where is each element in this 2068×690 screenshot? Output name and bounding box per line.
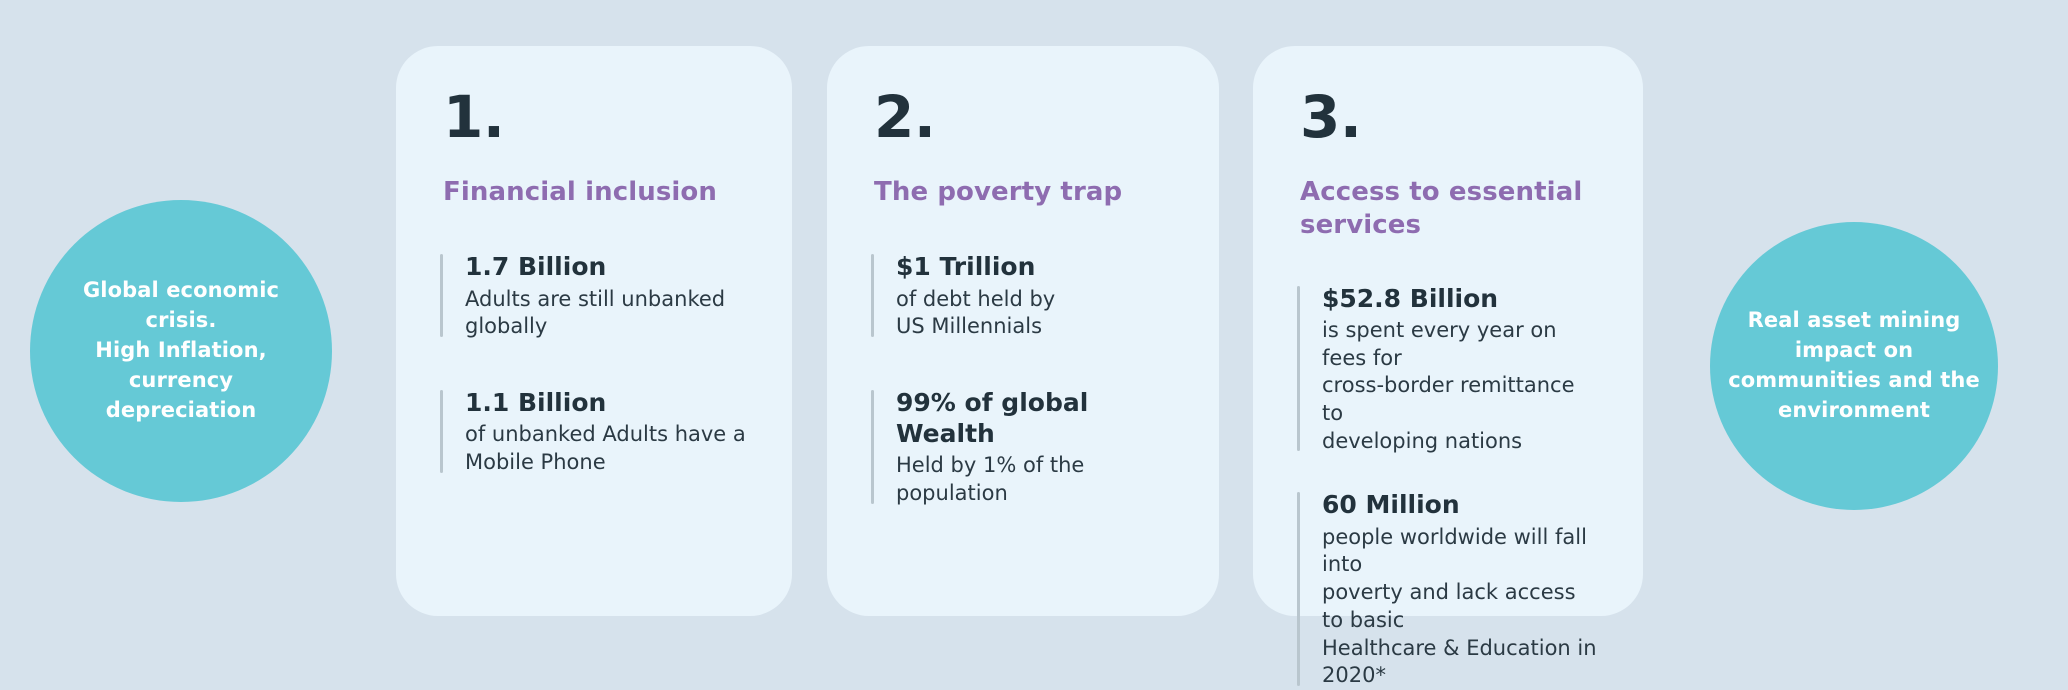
card-2-stats: $1 Trillion of debt held by US Millennia… [871,251,1175,508]
card-3-number: 3. [1300,88,1599,146]
card-1-title: Financial inclusion [443,176,733,209]
bubble-left-text: Global economic crisis. High Inflation, … [67,276,295,425]
infographic-canvas: Global economic crisis. High Inflation, … [0,0,2068,676]
stat-description: is spent every year on fees for cross-bo… [1322,317,1599,456]
accent-bar-icon [1297,286,1300,452]
stat-item: 60 Million people worldwide will fall in… [1297,489,1599,690]
stat-value: 1.7 Billion [465,251,748,282]
accent-bar-icon [440,390,443,473]
stat-description: Adults are still unbanked globally [465,286,748,341]
stat-value: $1 Trillion [896,251,1175,282]
stat-item: 1.1 Billion of unbanked Adults have a Mo… [440,387,748,477]
card-2-number: 2. [874,88,1175,146]
stat-value: 1.1 Billion [465,387,748,418]
stat-item: $52.8 Billion is spent every year on fee… [1297,283,1599,456]
bubble-real-asset-mining-impact: Real asset mining impact on communities … [1710,222,1998,510]
stat-description: of debt held by US Millennials [896,286,1175,341]
stat-item: 1.7 Billion Adults are still unbanked gl… [440,251,748,341]
bubble-global-economic-crisis: Global economic crisis. High Inflation, … [30,200,332,502]
stat-item: 99% of global Wealth Held by 1% of the p… [871,387,1175,508]
accent-bar-icon [871,254,874,337]
stat-item: $1 Trillion of debt held by US Millennia… [871,251,1175,341]
card-financial-inclusion: 1. Financial inclusion 1.7 Billion Adult… [396,46,792,616]
card-2-title: The poverty trap [874,176,1164,209]
stat-description: Held by 1% of the population [896,452,1175,507]
accent-bar-icon [440,254,443,337]
accent-bar-icon [871,390,874,504]
card-3-title: Access to essential services [1300,176,1590,243]
card-access-to-essential-services: 3. Access to essential services $52.8 Bi… [1253,46,1643,616]
stat-value: $52.8 Billion [1322,283,1599,314]
stat-description: people worldwide will fall into poverty … [1322,524,1599,690]
stat-description: of unbanked Adults have a Mobile Phone [465,421,748,476]
card-3-stats: $52.8 Billion is spent every year on fee… [1297,283,1599,690]
bubble-right-text: Real asset mining impact on communities … [1718,306,1990,425]
stat-value: 60 Million [1322,489,1599,520]
card-1-stats: 1.7 Billion Adults are still unbanked gl… [440,251,748,476]
accent-bar-icon [1297,492,1300,686]
stat-value: 99% of global Wealth [896,387,1175,450]
card-the-poverty-trap: 2. The poverty trap $1 Trillion of debt … [827,46,1219,616]
card-1-number: 1. [443,88,748,146]
